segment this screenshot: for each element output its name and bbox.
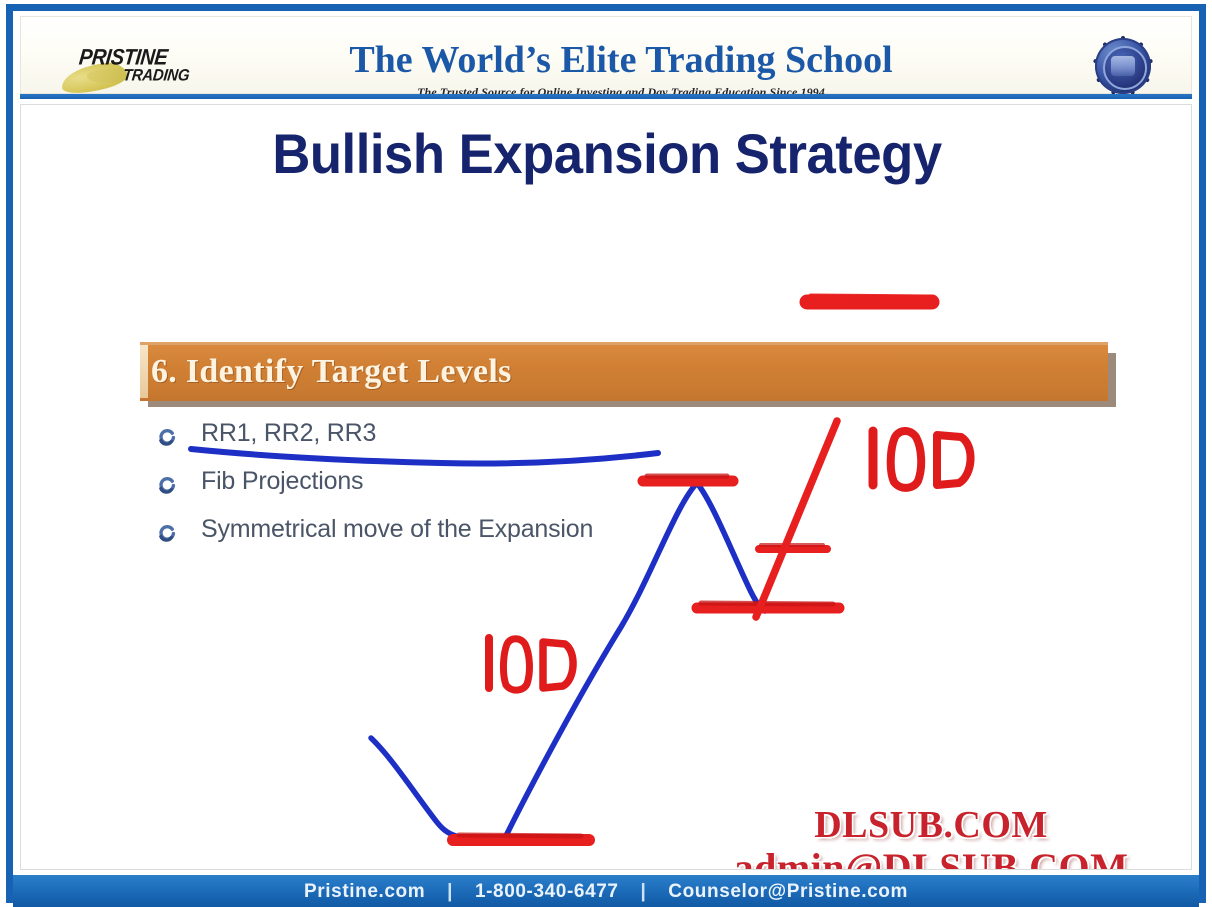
- pristine-seal-icon: [1091, 34, 1155, 98]
- ink-red-banner-stroke: [807, 297, 932, 302]
- bullet-label: Fib Projections: [201, 467, 363, 496]
- bullet-list: RR1, RR2, RR3 Fib Projections: [157, 417, 857, 561]
- list-item: Fib Projections: [157, 465, 857, 513]
- header-band: PRISTINE TRADING The World’s Elite Tradi…: [20, 16, 1192, 94]
- footer-phone: 1-800-340-6477: [475, 881, 619, 902]
- list-item: RR1, RR2, RR3: [157, 417, 857, 465]
- section-banner-label: 6. Identify Target Levels: [151, 353, 512, 391]
- pristine-trading-logo: PRISTINE TRADING: [57, 43, 237, 97]
- footer-email[interactable]: Counselor@Pristine.com: [668, 881, 908, 902]
- footer-bar: Pristine.com | 1-800-340-6477 | Counselo…: [13, 875, 1199, 907]
- footer-separator-2: |: [624, 881, 662, 902]
- measure-label-upper: [873, 431, 971, 488]
- seal-core: [1111, 56, 1135, 76]
- bullet-label: RR1, RR2, RR3: [201, 419, 376, 448]
- watermark-email: admin@DLSUB.COM: [681, 847, 1181, 870]
- logo-word-trading: TRADING: [122, 66, 190, 85]
- bullet-label: Symmetrical move of the Expansion: [201, 515, 593, 544]
- watermark: DLSUB.COM admin@DLSUB.COM: [681, 805, 1181, 870]
- swirl-bullet-icon: [157, 523, 177, 543]
- slide-body: Bullish Expansion Strategy: [20, 104, 1192, 870]
- list-item: Symmetrical move of the Expansion: [157, 513, 857, 561]
- swirl-bullet-icon: [157, 427, 177, 447]
- header-title: The World’s Elite Trading School: [241, 41, 1001, 81]
- page-title: Bullish Expansion Strategy: [56, 121, 1158, 186]
- banner-left-accent: [140, 345, 148, 398]
- footer-contact-line: Pristine.com | 1-800-340-6477 | Counselo…: [13, 881, 1199, 903]
- swirl-bullet-icon: [157, 475, 177, 495]
- slide-canvas: PRISTINE TRADING The World’s Elite Tradi…: [0, 0, 1212, 907]
- header-divider: [20, 94, 1192, 99]
- measure-label-lower: [489, 638, 573, 690]
- footer-separator-1: |: [431, 881, 469, 902]
- footer-website[interactable]: Pristine.com: [304, 881, 425, 902]
- watermark-site: DLSUB.COM: [681, 805, 1181, 845]
